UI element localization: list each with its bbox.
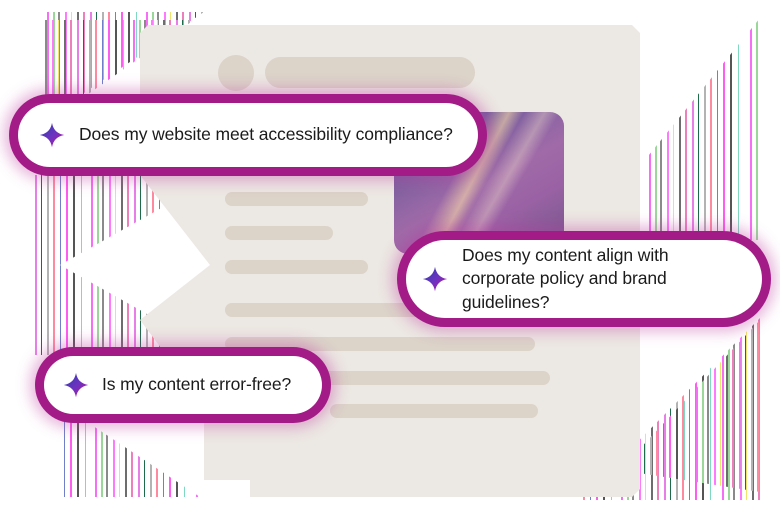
suggestion-bubble-accessibility[interactable]: Does my website meet accessibility compl… — [18, 103, 478, 167]
text-line — [225, 192, 368, 206]
text-line — [225, 337, 535, 351]
suggestion-bubble-error-free[interactable]: Is my content error-free? — [44, 356, 322, 414]
sparkle-icon — [422, 266, 448, 292]
suggestion-text: Is my content error-free? — [102, 373, 291, 396]
hero-illustration: Does my website meet accessibility compl… — [0, 0, 780, 530]
suggestion-bubble-brand-policy[interactable]: Does my content align with corporate pol… — [406, 240, 762, 318]
sparkle-icon — [63, 372, 89, 398]
text-line — [330, 404, 538, 418]
title-bar — [265, 57, 475, 88]
text-line — [225, 226, 333, 240]
suggestion-text: Does my content align with corporate pol… — [462, 244, 742, 313]
avatar — [218, 55, 254, 91]
sparkle-icon — [39, 122, 65, 148]
text-line — [225, 260, 368, 274]
suggestion-text: Does my website meet accessibility compl… — [79, 123, 453, 146]
